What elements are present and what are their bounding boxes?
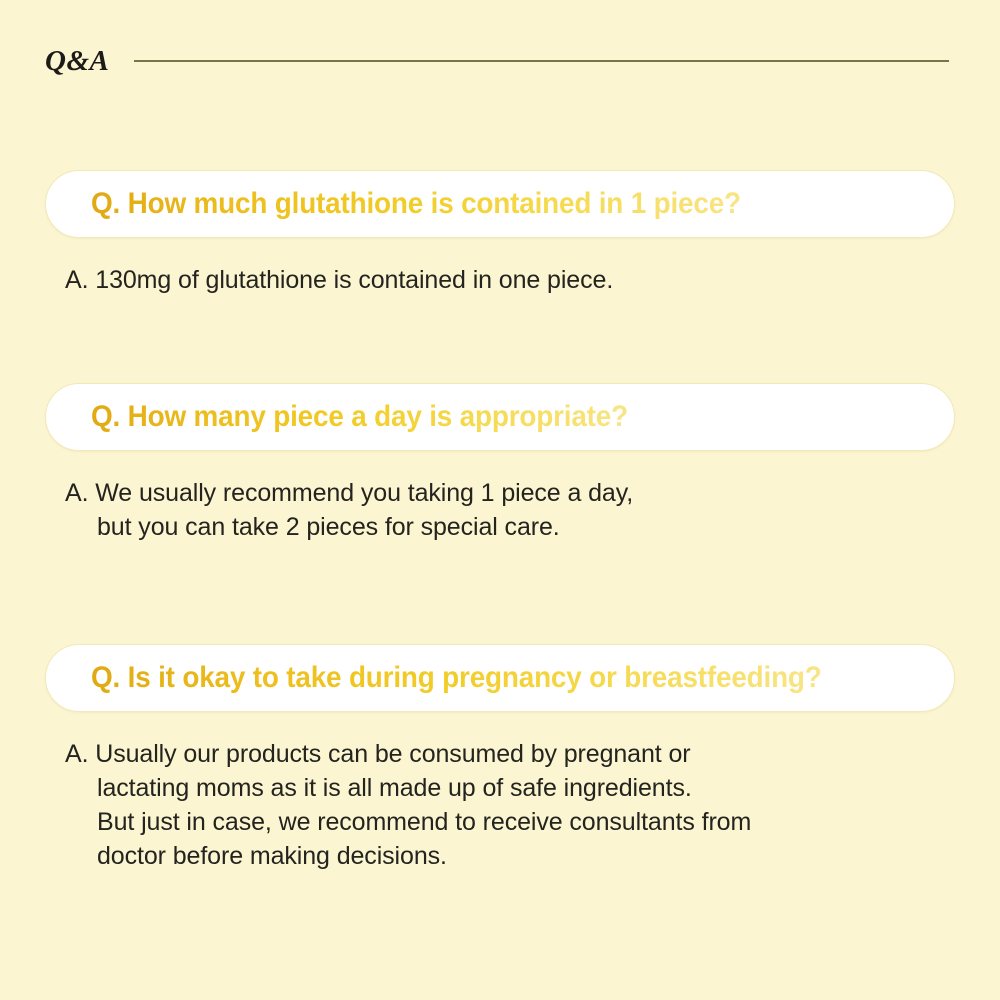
answer-line: A. Usually our products can be consumed …: [65, 737, 1000, 771]
qa-item-2: Q. How many piece a day is appropriate? …: [0, 383, 1000, 544]
question-text-3: Q. Is it okay to take during pregnancy o…: [91, 663, 822, 693]
qa-page: Q&A Q. How much glutathione is contained…: [0, 0, 1000, 1000]
page-title: Q&A: [45, 47, 109, 76]
answer-line: A. 130mg of glutathione is contained in …: [65, 263, 1000, 297]
answer-line: But just in case, we recommend to receiv…: [65, 805, 1000, 839]
question-pill-2[interactable]: Q. How many piece a day is appropriate?: [45, 383, 955, 451]
answer-block-1: A. 130mg of glutathione is contained in …: [65, 263, 1000, 297]
answer-block-3: A. Usually our products can be consumed …: [65, 737, 1000, 873]
qa-item-3: Q. Is it okay to take during pregnancy o…: [0, 644, 1000, 873]
spacer: [0, 297, 1000, 383]
answer-line: A. We usually recommend you taking 1 pie…: [65, 476, 1000, 510]
qa-list: Q. How much glutathione is contained in …: [0, 170, 1000, 873]
answer-line: lactating moms as it is all made up of s…: [65, 771, 1000, 805]
page-header: Q&A: [0, 38, 1000, 84]
header-divider-line: [134, 60, 949, 62]
spacer: [0, 544, 1000, 644]
question-pill-3[interactable]: Q. Is it okay to take during pregnancy o…: [45, 644, 955, 712]
answer-block-2: A. We usually recommend you taking 1 pie…: [65, 476, 1000, 544]
answer-line: but you can take 2 pieces for special ca…: [65, 510, 1000, 544]
qa-item-1: Q. How much glutathione is contained in …: [0, 170, 1000, 297]
question-text-2: Q. How many piece a day is appropriate?: [91, 402, 628, 432]
answer-line: doctor before making decisions.: [65, 839, 1000, 873]
question-text-1: Q. How much glutathione is contained in …: [91, 189, 741, 219]
question-pill-1[interactable]: Q. How much glutathione is contained in …: [45, 170, 955, 238]
